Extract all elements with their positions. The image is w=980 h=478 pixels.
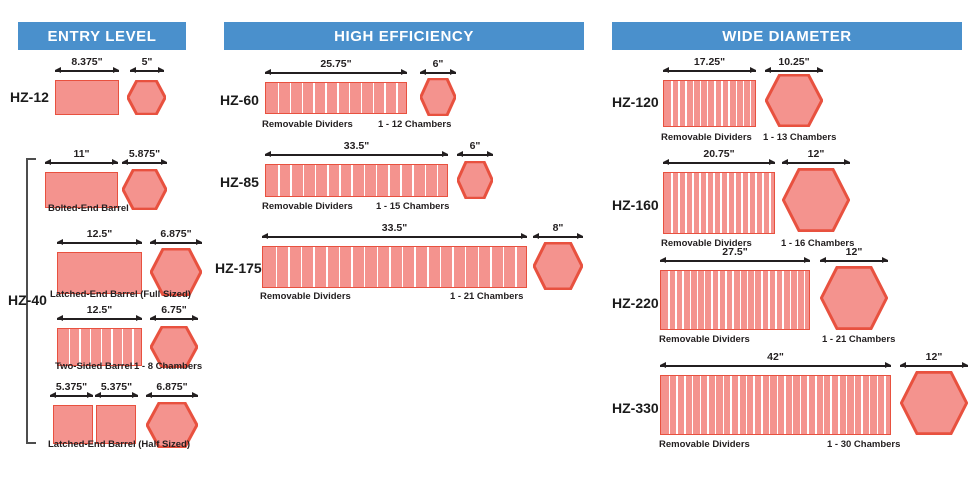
dimension-value: 27.5" xyxy=(660,246,810,258)
divider-line xyxy=(769,173,771,233)
dimension-bar xyxy=(150,318,198,320)
divider-line xyxy=(675,271,677,329)
hexagon-cross-section xyxy=(782,168,850,232)
dimension-bar xyxy=(55,70,119,72)
divider-line xyxy=(790,271,792,329)
dimension-hexagon-width: 6.875" xyxy=(150,236,202,250)
dimension-barrel-length: 27.5" xyxy=(660,254,810,268)
arrowhead-right-icon xyxy=(804,257,810,263)
divider-line xyxy=(721,81,723,126)
caption-barrel: Bolted-End Barrel xyxy=(48,203,129,214)
dimension-hexagon-width: 6.75" xyxy=(150,312,198,326)
arrowhead-left-icon xyxy=(55,67,61,73)
divider-line xyxy=(388,165,390,196)
caption-barrel: Removable Dividers xyxy=(262,201,353,212)
barrel-shape xyxy=(57,252,142,294)
divider-line xyxy=(797,271,799,329)
model-label-hz-160: HZ-160 xyxy=(612,197,659,213)
dimension-hexagon-width: 12" xyxy=(782,156,850,170)
column-header-entry-level: ENTRY LEVEL xyxy=(18,22,186,50)
divider-line xyxy=(777,376,779,434)
dimension-barrel-length: 12.5" xyxy=(57,312,142,326)
dimension-barrel-length: 8.375" xyxy=(55,64,119,78)
divider-line xyxy=(720,173,722,233)
divider-line xyxy=(132,329,134,365)
divider-line xyxy=(313,247,315,287)
dimension-hexagon-width: 8" xyxy=(533,230,583,244)
divider-line xyxy=(697,271,699,329)
arrowhead-right-icon xyxy=(577,233,583,239)
dimension-value: 33.5" xyxy=(265,140,448,152)
barrel-shape xyxy=(660,375,891,435)
divider-line xyxy=(313,83,315,113)
divider-line xyxy=(669,376,671,434)
arrowhead-right-icon xyxy=(769,159,775,165)
dimension-bar xyxy=(150,242,202,244)
divider-line xyxy=(671,173,673,233)
divider-line xyxy=(746,376,748,434)
divider-line xyxy=(377,247,379,287)
arrowhead-left-icon xyxy=(765,67,771,73)
dimension-barrel-length: 25.75" xyxy=(265,66,407,80)
model-label-hz-85: HZ-85 xyxy=(220,174,259,190)
arrowhead-right-icon xyxy=(161,159,167,165)
barrel-shape xyxy=(262,246,527,288)
arrowhead-right-icon xyxy=(192,392,198,398)
divider-line xyxy=(278,83,280,113)
divider-line xyxy=(376,165,378,196)
divider-line xyxy=(288,247,290,287)
dimension-value: 12" xyxy=(782,148,850,160)
arrowhead-right-icon xyxy=(87,392,93,398)
caption-barrel: Removable Dividers xyxy=(661,132,752,143)
arrowhead-right-icon xyxy=(844,159,850,165)
divider-line xyxy=(725,271,727,329)
arrowhead-left-icon xyxy=(265,69,271,75)
arrowhead-right-icon xyxy=(136,239,142,245)
divider-line xyxy=(412,165,414,196)
dimension-bar xyxy=(146,395,198,397)
divider-line xyxy=(339,247,341,287)
dimension-value: 6" xyxy=(420,58,456,70)
dimension-value: 12.5" xyxy=(57,228,142,240)
divider-line xyxy=(723,376,725,434)
arrowhead-left-icon xyxy=(457,151,463,157)
dimension-barrel-length-secondary: 5.375" xyxy=(95,389,138,403)
caption-chambers: 1 - 21 Chambers xyxy=(822,334,895,345)
dimension-barrel-length: 42" xyxy=(660,359,891,373)
divider-line xyxy=(715,376,717,434)
dimension-hexagon-width: 10.25" xyxy=(765,64,823,78)
arrowhead-right-icon xyxy=(132,392,138,398)
arrowhead-left-icon xyxy=(663,159,669,165)
divider-line xyxy=(101,329,103,365)
arrowhead-right-icon xyxy=(882,257,888,263)
arrowhead-right-icon xyxy=(885,362,891,368)
arrowhead-right-icon xyxy=(192,315,198,321)
divider-line xyxy=(440,247,442,287)
dimension-hexagon-width: 6" xyxy=(457,148,493,162)
dimension-bar xyxy=(820,260,888,262)
divider-line xyxy=(503,247,505,287)
arrowhead-right-icon xyxy=(196,239,202,245)
arrowhead-left-icon xyxy=(262,233,268,239)
divider-line xyxy=(718,271,720,329)
column-header-high-efficiency: HIGH EFFICIENCY xyxy=(224,22,584,50)
divider-line xyxy=(682,271,684,329)
caption-barrel: Two-Sided Barrel xyxy=(55,361,132,372)
arrowhead-left-icon xyxy=(130,67,136,73)
divider-line xyxy=(676,376,678,434)
divider-line xyxy=(69,329,71,365)
divider-line xyxy=(452,247,454,287)
divider-line xyxy=(782,271,784,329)
model-label-hz-60: HZ-60 xyxy=(220,92,259,108)
arrowhead-left-icon xyxy=(420,69,426,75)
divider-line xyxy=(303,165,305,196)
divider-line xyxy=(465,247,467,287)
divider-line xyxy=(685,173,687,233)
dimension-hexagon-width: 12" xyxy=(900,359,968,373)
dimension-hexagon-width: 6.875" xyxy=(146,389,198,403)
dimension-bar xyxy=(660,365,891,367)
divider-line xyxy=(792,376,794,434)
divider-line xyxy=(692,173,694,233)
barrel-shape xyxy=(265,82,407,114)
divider-line xyxy=(707,376,709,434)
divider-line xyxy=(854,376,856,434)
divider-line xyxy=(743,81,745,126)
dimension-bar xyxy=(265,72,407,74)
divider-line xyxy=(427,247,429,287)
divider-line xyxy=(838,376,840,434)
dimension-value: 5.375" xyxy=(95,381,138,393)
divider-line xyxy=(276,247,278,287)
arrowhead-right-icon xyxy=(113,67,119,73)
divider-line xyxy=(400,165,402,196)
arrowhead-left-icon xyxy=(50,392,56,398)
divider-line xyxy=(741,173,743,233)
barrel-shape xyxy=(660,270,810,330)
divider-line xyxy=(704,271,706,329)
dimension-value: 6.75" xyxy=(150,304,198,316)
arrowhead-right-icon xyxy=(487,151,493,157)
divider-line xyxy=(734,173,736,233)
divider-line xyxy=(364,165,366,196)
caption-barrel: Latched-End Barrel (Half Sized) xyxy=(48,439,190,450)
dimension-bar xyxy=(900,365,968,367)
divider-line xyxy=(490,247,492,287)
arrowhead-left-icon xyxy=(150,239,156,245)
dimension-hexagon-width: 5" xyxy=(130,64,164,78)
dimension-value: 6" xyxy=(457,140,493,152)
caption-barrel: Removable Dividers xyxy=(260,291,351,302)
hexagon-cross-section xyxy=(420,78,456,116)
dimension-bar xyxy=(262,236,527,238)
dimension-value: 17.25" xyxy=(663,56,756,68)
arrowhead-right-icon xyxy=(158,67,164,73)
caption-barrel: Latched-End Barrel (Full Sized) xyxy=(50,289,191,300)
divider-line xyxy=(804,271,806,329)
divider-line xyxy=(761,271,763,329)
hexagon-cross-section xyxy=(765,74,823,127)
arrowhead-right-icon xyxy=(401,69,407,75)
bracket-tick-top xyxy=(26,158,36,160)
caption-barrel: Removable Dividers xyxy=(659,439,750,450)
divider-line xyxy=(515,247,517,287)
dimension-bar xyxy=(533,236,583,238)
dimension-barrel-length: 33.5" xyxy=(265,148,448,162)
divider-line xyxy=(315,165,317,196)
arrowhead-left-icon xyxy=(663,67,669,73)
caption-chambers: 1 - 30 Chambers xyxy=(827,439,900,450)
divider-line xyxy=(678,81,680,126)
divider-line xyxy=(326,247,328,287)
dimension-value: 12.5" xyxy=(57,304,142,316)
caption-barrel: Removable Dividers xyxy=(659,334,750,345)
divider-line xyxy=(700,81,702,126)
divider-line xyxy=(754,271,756,329)
column-header-wide-diameter: WIDE DIAMETER xyxy=(612,22,962,50)
dimension-bar xyxy=(265,154,448,156)
divider-line xyxy=(884,376,886,434)
dimension-value: 5" xyxy=(130,56,164,68)
dimension-value: 25.75" xyxy=(265,58,407,70)
dimension-bar xyxy=(57,318,142,320)
divider-line xyxy=(478,247,480,287)
arrowhead-left-icon xyxy=(782,159,788,165)
model-label-hz-220: HZ-220 xyxy=(612,295,659,311)
divider-line xyxy=(869,376,871,434)
diagram-canvas: ENTRY LEVELHIGH EFFICIENCYWIDE DIAMETER … xyxy=(0,0,980,478)
arrowhead-right-icon xyxy=(962,362,968,368)
divider-line xyxy=(846,376,848,434)
model-label-hz-330: HZ-330 xyxy=(612,400,659,416)
divider-line xyxy=(437,165,439,196)
dimension-bar xyxy=(57,242,142,244)
divider-line xyxy=(762,173,764,233)
dimension-barrel-length: 11" xyxy=(45,156,118,170)
divider-line xyxy=(402,247,404,287)
divider-line xyxy=(90,329,92,365)
divider-line xyxy=(728,81,730,126)
arrowhead-right-icon xyxy=(521,233,527,239)
divider-line xyxy=(396,83,398,113)
dimension-barrel-length: 20.75" xyxy=(663,156,775,170)
divider-line xyxy=(111,329,113,365)
barrel-shape xyxy=(663,172,775,234)
divider-line xyxy=(775,271,777,329)
divider-line xyxy=(693,81,695,126)
divider-line xyxy=(339,165,341,196)
hexagon-cross-section xyxy=(820,266,888,330)
dimension-bar xyxy=(660,260,810,262)
caption-chambers: 1 - 13 Chambers xyxy=(763,132,836,143)
dimension-value: 12" xyxy=(820,246,888,258)
caption-chambers: 1 - 12 Chambers xyxy=(378,119,451,130)
divider-line xyxy=(389,247,391,287)
arrowhead-left-icon xyxy=(122,159,128,165)
dimension-value: 5.875" xyxy=(122,148,167,160)
divider-line xyxy=(707,81,709,126)
divider-line xyxy=(750,81,752,126)
barrel-shape xyxy=(265,164,448,197)
divider-line xyxy=(736,81,738,126)
divider-line xyxy=(302,83,304,113)
divider-line xyxy=(877,376,879,434)
divider-line xyxy=(861,376,863,434)
dimension-bar xyxy=(663,70,756,72)
divider-line xyxy=(713,173,715,233)
dimension-value: 6.875" xyxy=(150,228,202,240)
divider-line xyxy=(815,376,817,434)
divider-line xyxy=(671,81,673,126)
dimension-value: 11" xyxy=(45,148,118,160)
dimension-value: 8" xyxy=(533,222,583,234)
divider-line xyxy=(301,247,303,287)
dimension-hexagon-width: 6" xyxy=(420,66,456,80)
dimension-bar xyxy=(765,70,823,72)
divider-line xyxy=(727,173,729,233)
dimension-barrel-length: 33.5" xyxy=(262,230,527,244)
divider-line xyxy=(690,271,692,329)
divider-line xyxy=(800,376,802,434)
divider-line xyxy=(364,247,366,287)
dimension-value: 10.25" xyxy=(765,56,823,68)
divider-line xyxy=(351,247,353,287)
divider-line xyxy=(668,271,670,329)
dimension-value: 8.375" xyxy=(55,56,119,68)
bracket-tick-bottom xyxy=(26,442,36,444)
divider-line xyxy=(384,83,386,113)
arrowhead-left-icon xyxy=(57,239,63,245)
arrowhead-left-icon xyxy=(533,233,539,239)
divider-line xyxy=(738,376,740,434)
dimension-barrel-length: 12.5" xyxy=(57,236,142,250)
divider-line xyxy=(732,271,734,329)
dimension-hexagon-width: 12" xyxy=(820,254,888,268)
model-label-hz-175: HZ-175 xyxy=(215,260,262,276)
arrowhead-left-icon xyxy=(95,392,101,398)
dimension-value: 33.5" xyxy=(262,222,527,234)
model-label-hz-12: HZ-12 xyxy=(10,89,49,105)
divider-line xyxy=(830,376,832,434)
divider-line xyxy=(349,83,351,113)
caption-chambers: 1 - 8 Chambers xyxy=(134,361,202,372)
dimension-value: 5.375" xyxy=(50,381,93,393)
dimension-bar xyxy=(663,162,775,164)
divider-line xyxy=(684,376,686,434)
divider-line xyxy=(748,173,750,233)
arrowhead-left-icon xyxy=(660,257,666,263)
caption-chambers: 1 - 21 Chambers xyxy=(450,291,523,302)
divider-line xyxy=(337,83,339,113)
divider-line xyxy=(685,81,687,126)
divider-line xyxy=(700,376,702,434)
divider-line xyxy=(755,173,757,233)
arrowhead-left-icon xyxy=(57,315,63,321)
divider-line xyxy=(807,376,809,434)
divider-line xyxy=(79,329,81,365)
model-label-hz-120: HZ-120 xyxy=(612,94,659,110)
arrowhead-left-icon xyxy=(820,257,826,263)
divider-line xyxy=(278,165,280,196)
caption-barrel: Removable Dividers xyxy=(262,119,353,130)
divider-line xyxy=(414,247,416,287)
hexagon-cross-section xyxy=(900,371,968,435)
arrowhead-right-icon xyxy=(817,67,823,73)
divider-line xyxy=(753,376,755,434)
divider-line xyxy=(327,165,329,196)
arrowhead-left-icon xyxy=(146,392,152,398)
arrowhead-left-icon xyxy=(265,151,271,157)
arrowhead-left-icon xyxy=(900,362,906,368)
divider-line xyxy=(768,271,770,329)
divider-line xyxy=(740,271,742,329)
divider-line xyxy=(351,165,353,196)
arrowhead-right-icon xyxy=(112,159,118,165)
dimension-barrel-length: 5.375" xyxy=(50,389,93,403)
dimension-bar xyxy=(782,162,850,164)
divider-line xyxy=(823,376,825,434)
divider-line xyxy=(692,376,694,434)
divider-line xyxy=(425,165,427,196)
divider-line xyxy=(784,376,786,434)
divider-line xyxy=(747,271,749,329)
arrowhead-left-icon xyxy=(150,315,156,321)
divider-line xyxy=(761,376,763,434)
divider-line xyxy=(699,173,701,233)
arrowhead-right-icon xyxy=(450,69,456,75)
arrowhead-right-icon xyxy=(136,315,142,321)
hexagon-cross-section xyxy=(127,80,166,115)
divider-line xyxy=(361,83,363,113)
divider-line xyxy=(711,271,713,329)
divider-line xyxy=(290,165,292,196)
hexagon-cross-section xyxy=(533,242,583,290)
arrowhead-right-icon xyxy=(442,151,448,157)
divider-line xyxy=(122,329,124,365)
caption-chambers: 1 - 15 Chambers xyxy=(376,201,449,212)
barrel-shape xyxy=(55,80,119,115)
divider-line xyxy=(706,173,708,233)
divider-line xyxy=(373,83,375,113)
arrowhead-right-icon xyxy=(750,67,756,73)
divider-line xyxy=(769,376,771,434)
divider-line xyxy=(290,83,292,113)
dimension-value: 12" xyxy=(900,351,968,363)
hexagon-cross-section xyxy=(457,161,493,199)
divider-line xyxy=(325,83,327,113)
dimension-bar xyxy=(45,162,118,164)
divider-line xyxy=(678,173,680,233)
model-label-hz40: HZ-40 xyxy=(8,292,47,308)
divider-line xyxy=(730,376,732,434)
dimension-hexagon-width: 5.875" xyxy=(122,156,167,170)
dimension-barrel-length: 17.25" xyxy=(663,64,756,78)
dimension-value: 6.875" xyxy=(146,381,198,393)
barrel-shape xyxy=(663,80,756,127)
dimension-value: 20.75" xyxy=(663,148,775,160)
arrowhead-left-icon xyxy=(660,362,666,368)
dimension-value: 42" xyxy=(660,351,891,363)
arrowhead-left-icon xyxy=(45,159,51,165)
divider-line xyxy=(714,81,716,126)
